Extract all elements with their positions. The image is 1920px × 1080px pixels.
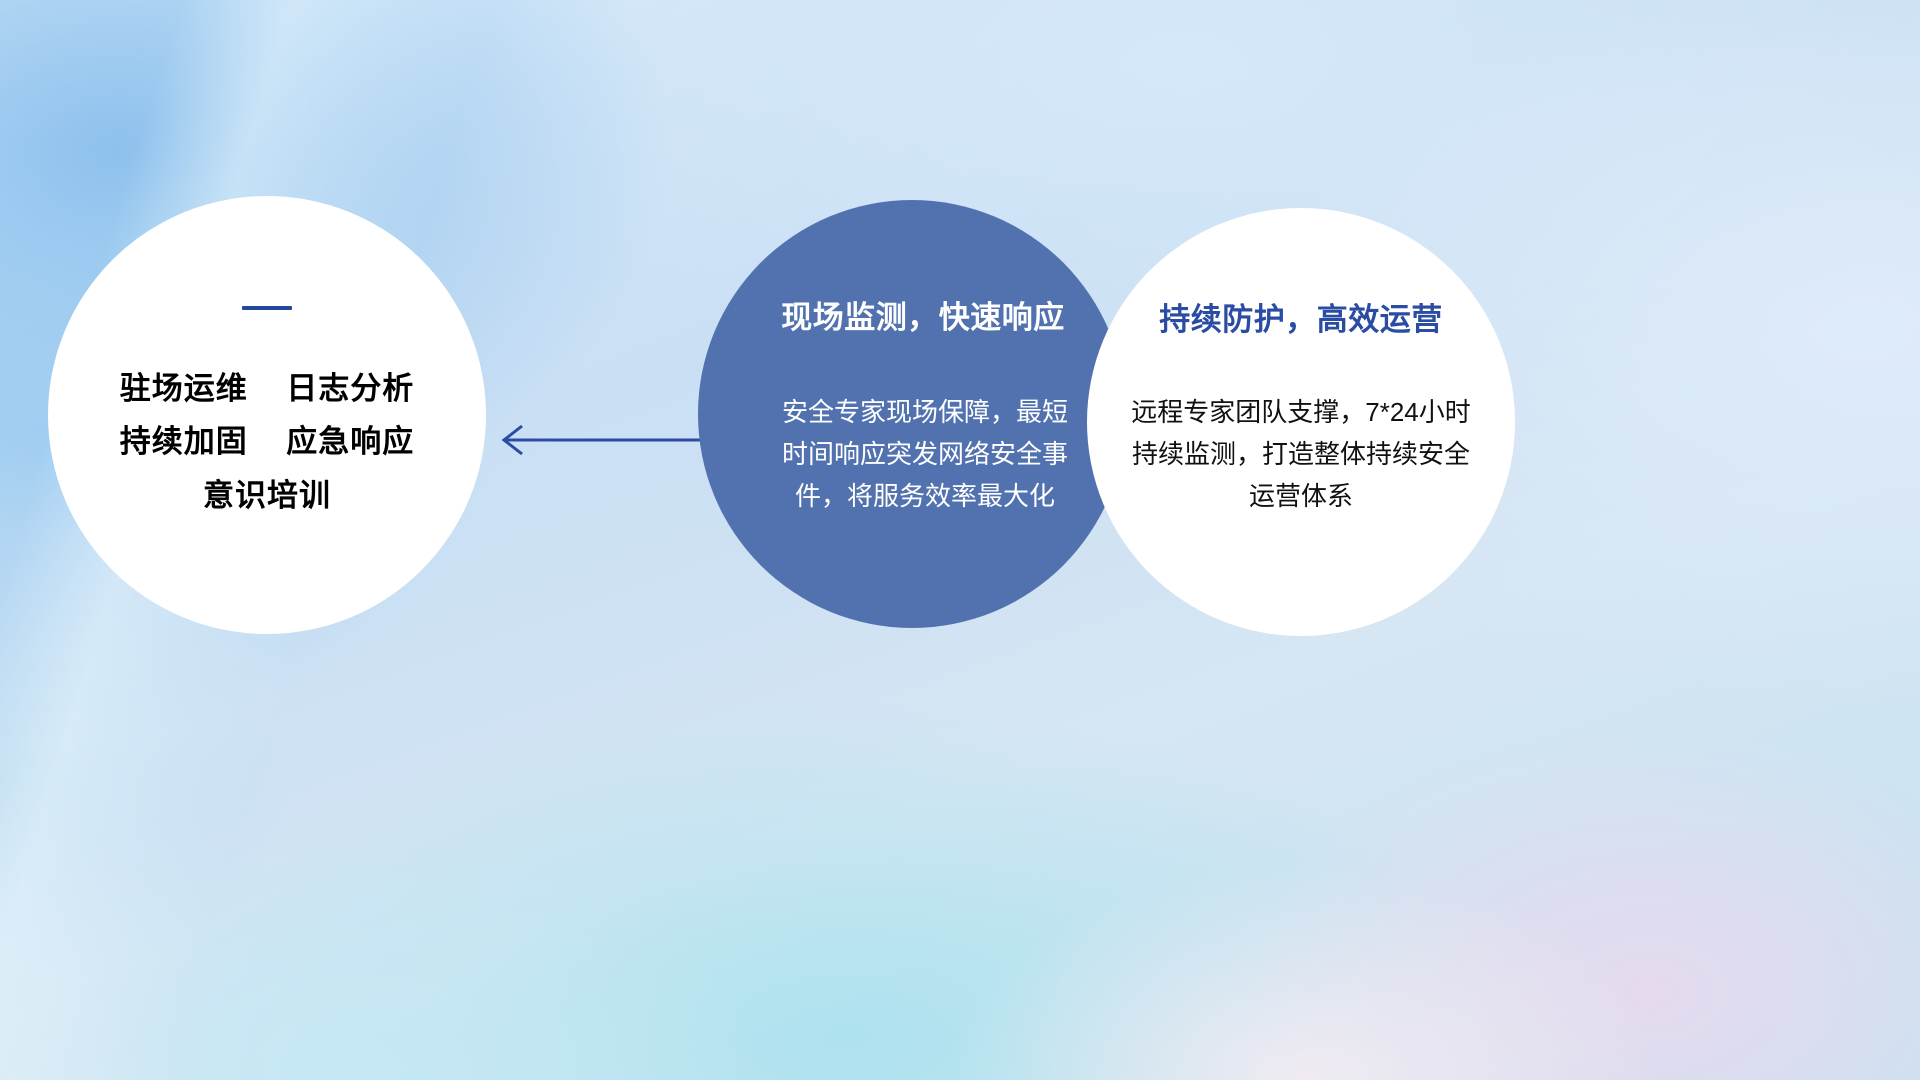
- left-circle-keyword-list: 驻场运维 日志分析 持续加固 应急响应 意识培训: [120, 362, 414, 522]
- right-circle-body: 远程专家团队支撑，7*24小时持续监测，打造整体持续安全运营体系: [1121, 391, 1481, 517]
- middle-circle-body: 安全专家现场保障，最短时间响应突发网络安全事件，将服务效率最大化: [775, 391, 1075, 517]
- slide-canvas: 驻场运维 日志分析 持续加固 应急响应 意识培训 现场监测，快速响应 安全专家现…: [0, 0, 1920, 1080]
- list-item: 驻场运维 日志分析: [120, 362, 414, 415]
- list-item: 意识培训: [120, 469, 414, 522]
- right-circle-content: 持续防护，高效运营 远程专家团队支撑，7*24小时持续监测，打造整体持续安全运营…: [1087, 208, 1515, 636]
- list-item: 持续加固 应急响应: [120, 415, 414, 468]
- left-circle-content: 驻场运维 日志分析 持续加固 应急响应 意识培训: [48, 196, 486, 634]
- middle-circle-title: 现场监测，快速响应: [781, 292, 1065, 337]
- accent-dash-icon: [242, 306, 292, 310]
- middle-circle-content: 现场监测，快速响应 安全专家现场保障，最短时间响应突发网络安全事件，将服务效率最…: [698, 200, 1126, 628]
- right-circle-title: 持续防护，高效运营: [1159, 294, 1443, 339]
